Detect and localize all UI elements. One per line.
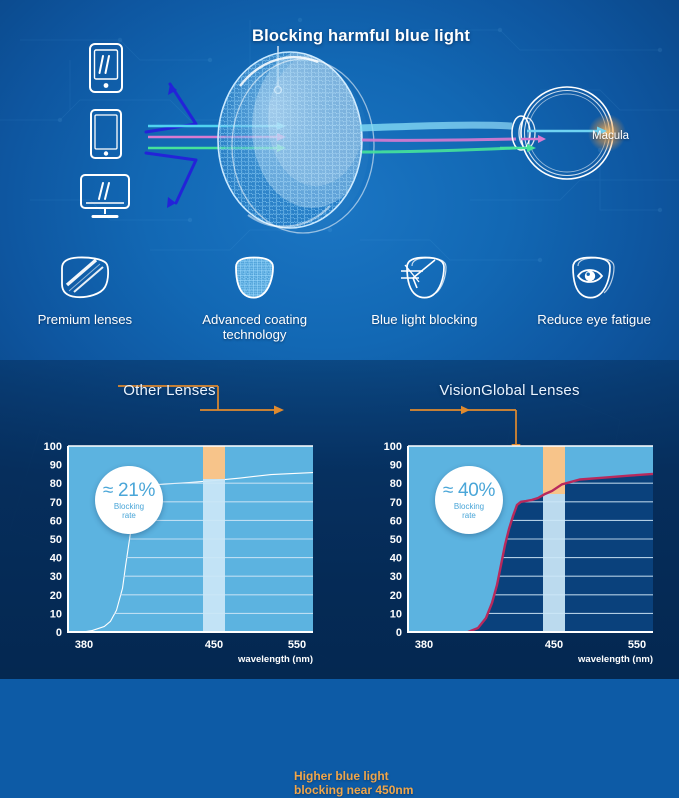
blocking-rate-badge: ≈ 21% Blockingrate bbox=[95, 466, 163, 534]
chart-plot-visionglobal-lenses: 100 90 80 70 60 50 40 30 20 10 0 380 450… bbox=[340, 360, 679, 679]
coating-mesh-lens-icon bbox=[226, 252, 284, 304]
highlight-band-top-orange bbox=[203, 446, 225, 479]
svg-text:0: 0 bbox=[396, 627, 402, 639]
svg-text:70: 70 bbox=[390, 497, 402, 509]
charts-section: Higher blue light blocking near 450nm Ot… bbox=[0, 360, 679, 679]
feature-premium-lenses[interactable]: Premium lenses bbox=[0, 252, 170, 357]
feature-advanced-coating[interactable]: Advanced coating technology bbox=[170, 252, 340, 357]
svg-text:20: 20 bbox=[390, 590, 402, 602]
premium-lens-icon bbox=[56, 252, 114, 304]
svg-text:70: 70 bbox=[50, 497, 62, 509]
feature-label: Blue light blocking bbox=[371, 313, 477, 328]
blocking-rate-value: ≈ 21% bbox=[103, 480, 155, 502]
svg-text:40: 40 bbox=[390, 553, 402, 565]
svg-text:10: 10 bbox=[50, 608, 62, 620]
infographic-canvas: Blocking harmful blue light bbox=[0, 0, 679, 679]
x-axis-unit: wavelength (nm) bbox=[577, 654, 653, 665]
feature-reduce-eye-fatigue[interactable]: Reduce eye fatigue bbox=[509, 252, 679, 357]
svg-text:450: 450 bbox=[545, 639, 563, 651]
blocked-blue-ray-lower bbox=[146, 153, 196, 203]
transmitted-cyan-beam bbox=[360, 125, 512, 128]
svg-text:0: 0 bbox=[56, 627, 62, 639]
transmitted-green-beam bbox=[362, 148, 516, 152]
blue-light-blocking-lens-icon bbox=[393, 252, 455, 304]
svg-text:450: 450 bbox=[205, 639, 223, 651]
svg-text:380: 380 bbox=[415, 639, 433, 651]
svg-text:90: 90 bbox=[50, 460, 62, 472]
svg-text:20: 20 bbox=[50, 590, 62, 602]
blue-light-annotation: Higher blue light blocking near 450nm bbox=[294, 770, 413, 798]
feature-label: Premium lenses bbox=[38, 313, 133, 328]
svg-text:100: 100 bbox=[384, 441, 402, 453]
chart-other-lenses: Other Lenses bbox=[0, 360, 339, 679]
macula-label: Macula bbox=[592, 130, 629, 142]
svg-text:30: 30 bbox=[50, 571, 62, 583]
transmitted-violet-beam bbox=[362, 139, 516, 140]
svg-text:60: 60 bbox=[390, 515, 402, 527]
svg-text:100: 100 bbox=[44, 441, 62, 453]
svg-text:50: 50 bbox=[390, 534, 402, 546]
light-path-diagram bbox=[0, 0, 679, 250]
blocking-rate-sublabel: Blockingrate bbox=[454, 503, 484, 520]
feature-blue-light-blocking[interactable]: Blue light blocking bbox=[340, 252, 510, 357]
hero-illustration: Blocking harmful blue light bbox=[0, 0, 679, 250]
eye-in-lens-icon bbox=[563, 252, 625, 304]
blocking-rate-value: ≈ 40% bbox=[443, 480, 495, 502]
svg-text:40: 40 bbox=[50, 553, 62, 565]
svg-text:550: 550 bbox=[288, 639, 306, 651]
svg-text:90: 90 bbox=[390, 460, 402, 472]
blocking-rate-sublabel: Blockingrate bbox=[114, 503, 144, 520]
chart-plot-other-lenses: 100 90 80 70 60 50 40 30 20 10 0 380 450… bbox=[0, 360, 339, 679]
svg-text:550: 550 bbox=[628, 639, 646, 651]
svg-text:380: 380 bbox=[75, 639, 93, 651]
highlight-band-top-orange bbox=[543, 446, 565, 494]
chart-visionglobal-lenses: VisionGlobal Lenses bbox=[340, 360, 679, 679]
svg-text:60: 60 bbox=[50, 515, 62, 527]
svg-text:10: 10 bbox=[390, 608, 402, 620]
feature-label: Reduce eye fatigue bbox=[537, 313, 651, 328]
feature-label: Advanced coating technology bbox=[180, 313, 330, 343]
x-axis-unit: wavelength (nm) bbox=[237, 654, 313, 665]
blocking-rate-badge: ≈ 40% Blockingrate bbox=[435, 466, 503, 534]
svg-text:80: 80 bbox=[50, 478, 62, 490]
svg-text:80: 80 bbox=[390, 478, 402, 490]
svg-text:30: 30 bbox=[390, 571, 402, 583]
feature-row: Premium lenses bbox=[0, 252, 679, 357]
svg-text:50: 50 bbox=[50, 534, 62, 546]
